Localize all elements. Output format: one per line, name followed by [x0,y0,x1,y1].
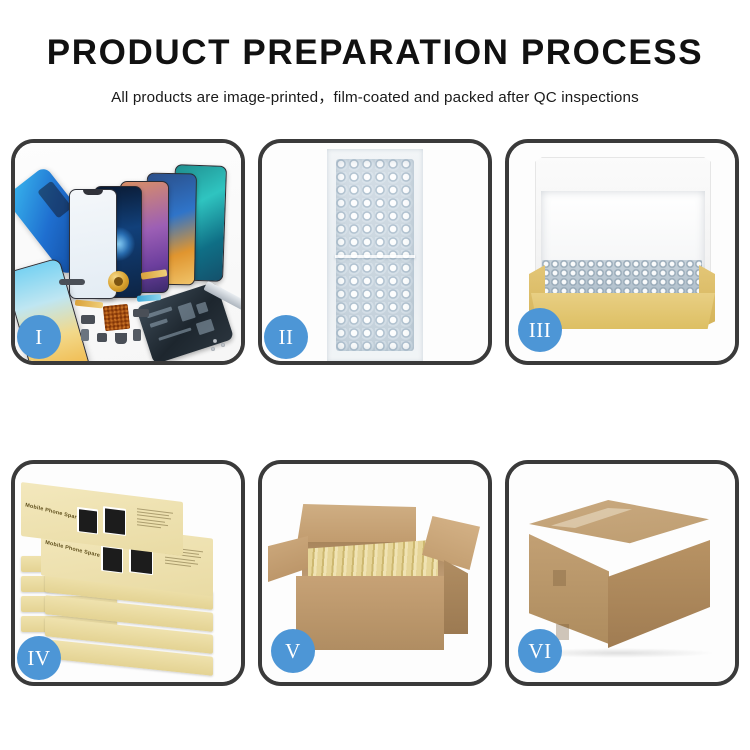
foam-padding [541,191,705,269]
retail-box-thumb-2a [101,545,123,574]
sealed-carton-left-face [529,534,609,644]
process-step-3: III [505,139,739,365]
small-part-a [81,315,95,324]
small-part-f [133,309,149,317]
retail-box-thumb-1b [103,506,126,536]
copper-grid-chip-icon [103,304,130,331]
page-subtitle: All products are image-printed，film-coat… [0,85,750,107]
screw-3 [211,347,215,351]
page-title: PRODUCT PREPARATION PROCESS [0,34,750,73]
speaker-coil-icon [108,271,129,292]
screw-1 [213,339,217,343]
process-step-5: V [258,460,492,686]
process-step-2: II [258,139,492,365]
small-part-b [81,329,89,341]
process-step-6: VI [505,460,739,686]
small-part-d [115,333,127,344]
process-step-4: Mobile Phone Spare Parts Mobile Phone Sp… [11,460,245,686]
step-badge-4: IV [17,636,61,680]
retail-box-speclines-1 [137,508,177,532]
bubble-wrapped-contents [542,260,702,296]
bubble-wrap-sleeve [327,149,423,361]
bubble-wrap-seam [335,255,415,258]
carton-front-face [296,576,444,650]
header: PRODUCT PREPARATION PROCESS All products… [0,0,750,107]
step-badge-5: V [271,629,315,673]
process-step-grid: I II [11,139,739,695]
carton-side-right [444,560,468,634]
retail-box-thumb-1a [77,507,98,535]
sealed-carton-right-face [608,540,710,648]
process-step-1: I [11,139,245,365]
small-part-e [133,329,141,341]
step-badge-2: II [264,315,308,359]
step-badge-6: VI [518,629,562,673]
earpiece-mesh-icon [59,279,85,285]
small-part-c [97,333,107,342]
step-badge-1: I [17,315,61,359]
carton-handle-tab-top [553,570,566,586]
step-badge-3: III [518,308,562,352]
screw-2 [221,343,225,347]
product-preparation-infographic: PRODUCT PREPARATION PROCESS All products… [0,0,750,750]
